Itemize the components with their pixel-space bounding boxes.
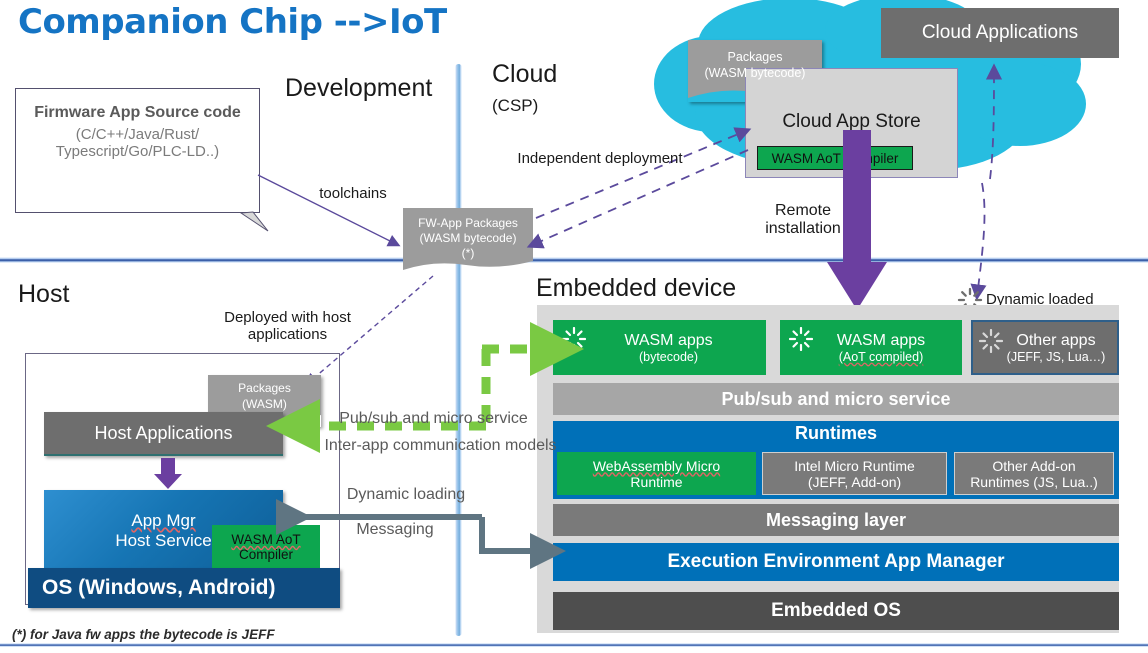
- cloud-applications-label: Cloud Applications: [922, 22, 1078, 44]
- cloud-packages-line2: (WASM bytecode): [688, 65, 822, 81]
- embedded-app-0[interactable]: WASM apps (bytecode): [553, 320, 766, 375]
- host-os-label: OS (Windows, Android): [42, 576, 276, 600]
- independent-deployment-label: Independent deployment: [500, 150, 700, 167]
- slide-canvas: Companion Chip -->IoT Development Cloud …: [0, 0, 1148, 653]
- embedded-runtime-0[interactable]: WebAssembly Micro Runtime: [557, 452, 756, 495]
- independent-deployment-arrow-2: [530, 108, 760, 228]
- remote-installation-line2: installation: [748, 220, 858, 238]
- firmware-source-line3: Typescript/Go/PLC-LD..): [15, 143, 260, 160]
- embedded-app-manager[interactable]: Execution Environment App Manager: [553, 543, 1119, 581]
- toolchains-arrow: [250, 165, 415, 255]
- section-heading-embedded: Embedded device: [536, 274, 736, 303]
- embedded-os-label: Embedded OS: [771, 600, 901, 622]
- fw-packages-line3: (*): [403, 246, 533, 261]
- embedded-runtime-2-line1: Other Add-on: [992, 458, 1075, 474]
- firmware-source-box[interactable]: Firmware App Source code (C/C++/Java/Rus…: [15, 88, 260, 213]
- footnote: (*) for Java fw apps the bytecode is JEF…: [12, 627, 275, 642]
- pubsub-middle-label: Pub/sub and micro service: [326, 409, 541, 428]
- host-applications-box[interactable]: Host Applications: [44, 412, 283, 456]
- section-heading-development: Development: [285, 74, 432, 103]
- host-app-mgr-line2: Host Service: [115, 531, 211, 551]
- embedded-runtime-1[interactable]: Intel Micro Runtime (JEFF, Add-on): [762, 452, 947, 495]
- cloud-apps-dashed-arrow: [960, 55, 1030, 305]
- host-purple-arrow-down: [153, 458, 183, 490]
- section-heading-host: Host: [18, 280, 69, 309]
- embedded-app-2-sub: (JEFF, JS, Lua…): [1007, 350, 1106, 364]
- embedded-app-2-name: Other apps: [1007, 332, 1106, 350]
- embedded-messaging-layer[interactable]: Messaging layer: [553, 504, 1119, 536]
- embedded-pubsub-bar[interactable]: Pub/sub and micro service: [553, 383, 1119, 415]
- fw-packages-line2: (WASM bytecode): [403, 231, 533, 246]
- embedded-runtime-1-line2: (JEFF, Add-on): [808, 474, 901, 490]
- spinner-icon: [789, 327, 813, 351]
- spinner-icon: [979, 329, 1003, 353]
- horizontal-divider-bottom: [0, 643, 1148, 647]
- toolchains-label: toolchains: [298, 185, 408, 202]
- embedded-runtime-2[interactable]: Other Add-on Runtimes (JS, Lua..): [954, 452, 1114, 495]
- spinner-icon: [562, 327, 586, 351]
- interapp-middle-label: Inter-app communication models: [318, 436, 563, 455]
- embedded-app-2[interactable]: Other apps (JEFF, JS, Lua…): [971, 320, 1119, 375]
- cloud-applications-box[interactable]: Cloud Applications: [881, 8, 1119, 58]
- embedded-runtime-2-line2: Runtimes (JS, Lua..): [970, 474, 1098, 490]
- host-packages-line2: (WASM): [208, 397, 321, 413]
- embedded-runtimes-title: Runtimes: [553, 423, 1119, 444]
- dynamic-loading-label: Dynamic loading: [326, 485, 486, 504]
- embedded-pubsub-label: Pub/sub and micro service: [721, 389, 950, 410]
- embedded-app-1-sub: (AoT compiled): [837, 350, 925, 364]
- section-heading-cloud: Cloud: [492, 60, 557, 89]
- fw-packages-line1: FW-App Packages: [403, 216, 533, 231]
- embedded-messaging-layer-label: Messaging layer: [766, 510, 906, 531]
- remote-installation-label: Remote installation: [748, 202, 858, 239]
- embedded-runtime-1-line1: Intel Micro Runtime: [794, 458, 915, 474]
- host-app-mgr-line1: App Mgr: [131, 511, 195, 531]
- host-os-bar[interactable]: OS (Windows, Android): [28, 568, 340, 608]
- firmware-source-line2: (C/C++/Java/Rust/: [15, 126, 260, 143]
- page-title: Companion Chip -->IoT: [18, 2, 447, 42]
- green-dashed-arrow-path: [282, 336, 562, 446]
- embedded-app-1-name: WASM apps: [837, 332, 925, 350]
- embedded-app-0-sub: (bytecode): [624, 350, 712, 364]
- embedded-runtime-0-line1: WebAssembly Micro: [593, 458, 720, 474]
- host-applications-label: Host Applications: [94, 423, 232, 444]
- embedded-app-0-name: WASM apps: [624, 332, 712, 350]
- host-packages-line1: Packages: [208, 381, 321, 397]
- fw-app-packages-callout[interactable]: FW-App Packages (WASM bytecode) (*): [403, 208, 533, 275]
- embedded-app-manager-label: Execution Environment App Manager: [667, 551, 1004, 573]
- embedded-runtime-0-line2: Runtime: [630, 474, 682, 490]
- remote-installation-line1: Remote: [748, 202, 858, 220]
- embedded-os[interactable]: Embedded OS: [553, 592, 1119, 630]
- embedded-app-1[interactable]: WASM apps (AoT compiled): [780, 320, 962, 375]
- messaging-label: Messaging: [340, 520, 450, 539]
- cloud-packages-line1: Packages: [688, 49, 822, 65]
- firmware-source-title: Firmware App Source code: [15, 104, 260, 122]
